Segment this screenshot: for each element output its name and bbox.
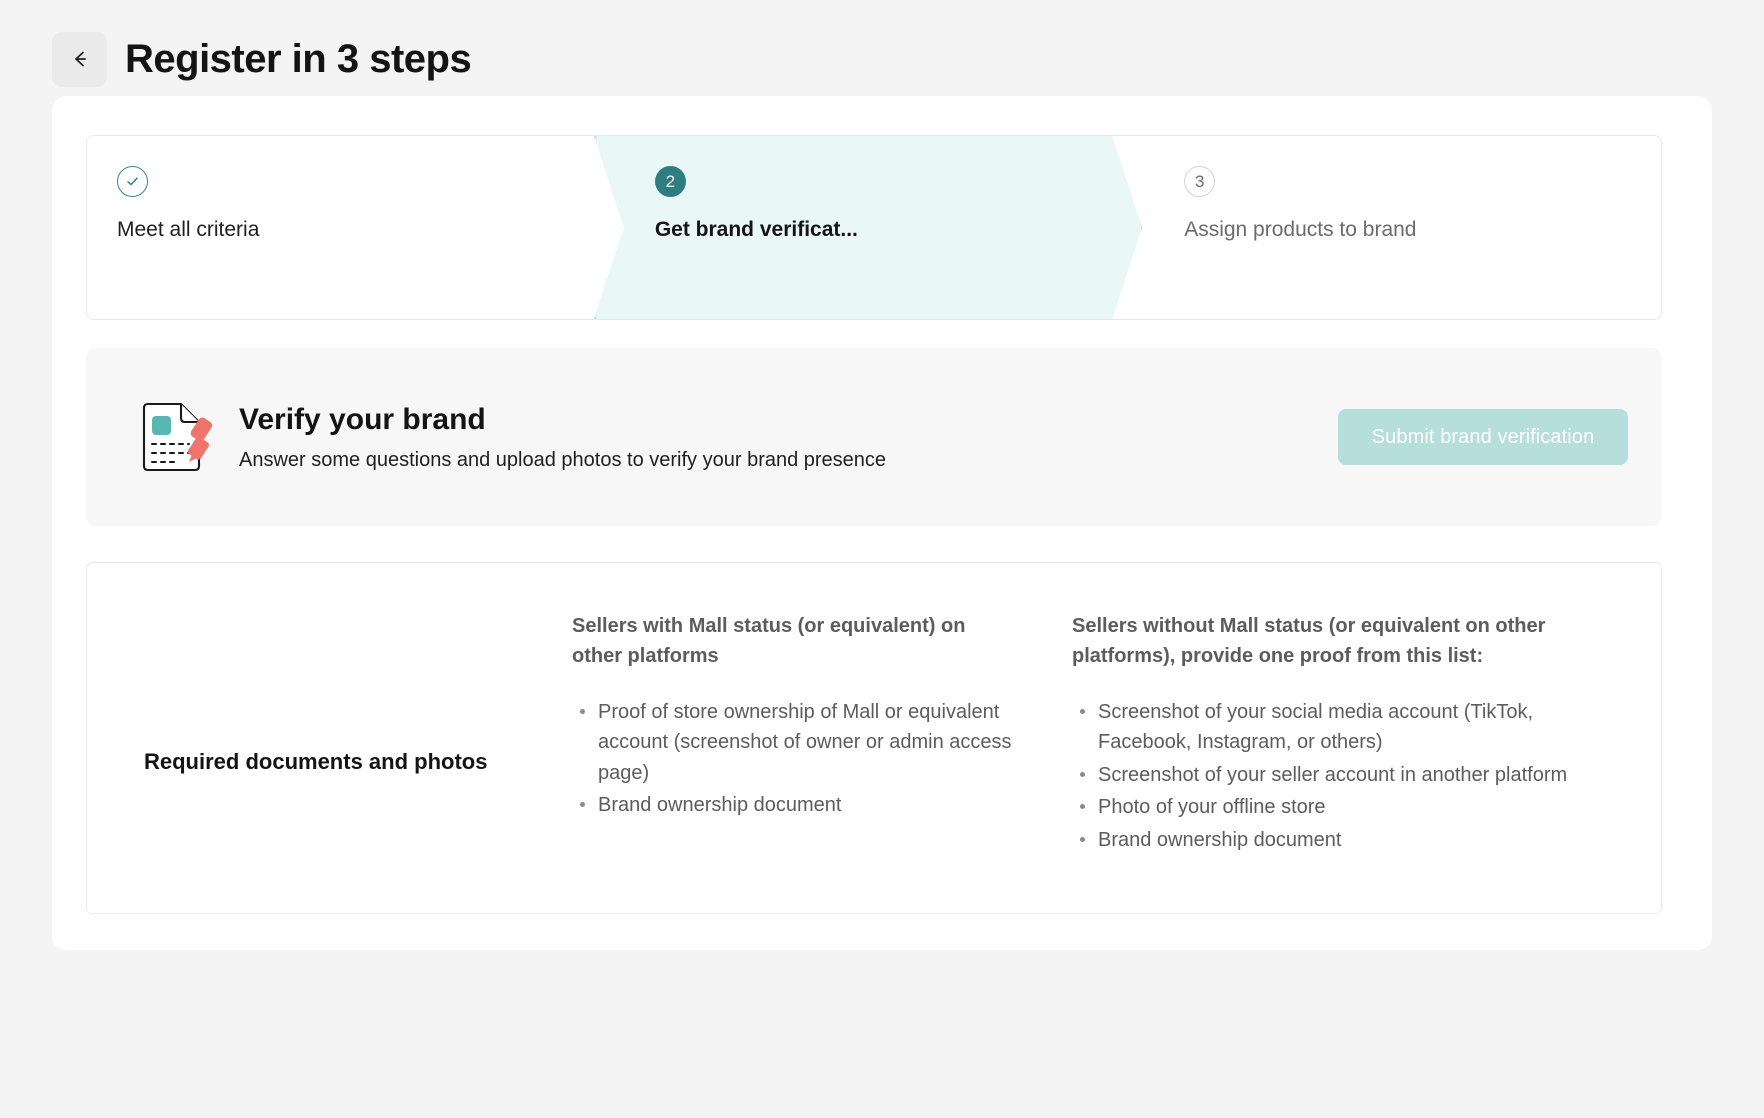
step-3-label: Assign products to brand [1184, 217, 1661, 242]
requirements-column-header: Sellers without Mall status (or equivale… [1072, 611, 1611, 671]
required-documents-table: Required documents and photos Sellers wi… [86, 562, 1662, 914]
step-1-meet-all-criteria[interactable]: Meet all criteria [87, 136, 594, 319]
step-3-number: 3 [1184, 166, 1215, 197]
document-pencil-icon [131, 394, 217, 480]
page-header: Register in 3 steps [0, 0, 1764, 96]
step-2-number: 2 [655, 166, 686, 197]
verify-brand-title: Verify your brand [239, 401, 1338, 439]
stepper: Meet all criteria 2 Get brand verificat.… [86, 135, 1662, 320]
step-3-assign-products-to-brand[interactable]: 3 Assign products to brand [1142, 136, 1661, 319]
registration-card: Meet all criteria 2 Get brand verificat.… [52, 96, 1712, 950]
requirements-list: Proof of store ownership of Mall or equi… [572, 697, 1012, 821]
submit-brand-verification-button[interactable]: Submit brand verification [1338, 409, 1628, 465]
step-2-label: Get brand verificat... [655, 217, 1141, 242]
verify-brand-subtitle: Answer some questions and upload photos … [239, 447, 1338, 473]
requirements-list: Screenshot of your social media account … [1072, 697, 1611, 855]
requirements-column-non-mall-sellers: Sellers without Mall status (or equivale… [1072, 563, 1661, 913]
page-title: Register in 3 steps [125, 39, 471, 79]
step-2-indicator: 2 [655, 166, 1141, 197]
arrow-left-icon [69, 48, 91, 70]
verify-brand-banner: Verify your brand Answer some questions … [86, 348, 1662, 526]
requirements-column-header: Sellers with Mall status (or equivalent)… [572, 611, 1012, 671]
list-item: Proof of store ownership of Mall or equi… [572, 697, 1012, 788]
step-2-get-brand-verification[interactable]: 2 Get brand verificat... [594, 136, 1142, 319]
step-1-indicator [117, 166, 594, 197]
requirements-row-label: Required documents and photos [144, 749, 487, 775]
step-3-indicator: 3 [1184, 166, 1661, 197]
list-item: Screenshot of your seller account in ano… [1072, 760, 1611, 790]
list-item: Brand ownership document [572, 790, 1012, 820]
list-item: Brand ownership document [1072, 825, 1611, 855]
step-1-label: Meet all criteria [117, 217, 594, 242]
requirements-row-label-cell: Required documents and photos [87, 563, 572, 913]
list-item: Screenshot of your social media account … [1072, 697, 1611, 758]
check-icon [117, 166, 148, 197]
list-item: Photo of your offline store [1072, 792, 1611, 822]
verify-brand-text: Verify your brand Answer some questions … [239, 401, 1338, 473]
requirements-column-mall-sellers: Sellers with Mall status (or equivalent)… [572, 563, 1072, 913]
back-button[interactable] [52, 32, 107, 87]
